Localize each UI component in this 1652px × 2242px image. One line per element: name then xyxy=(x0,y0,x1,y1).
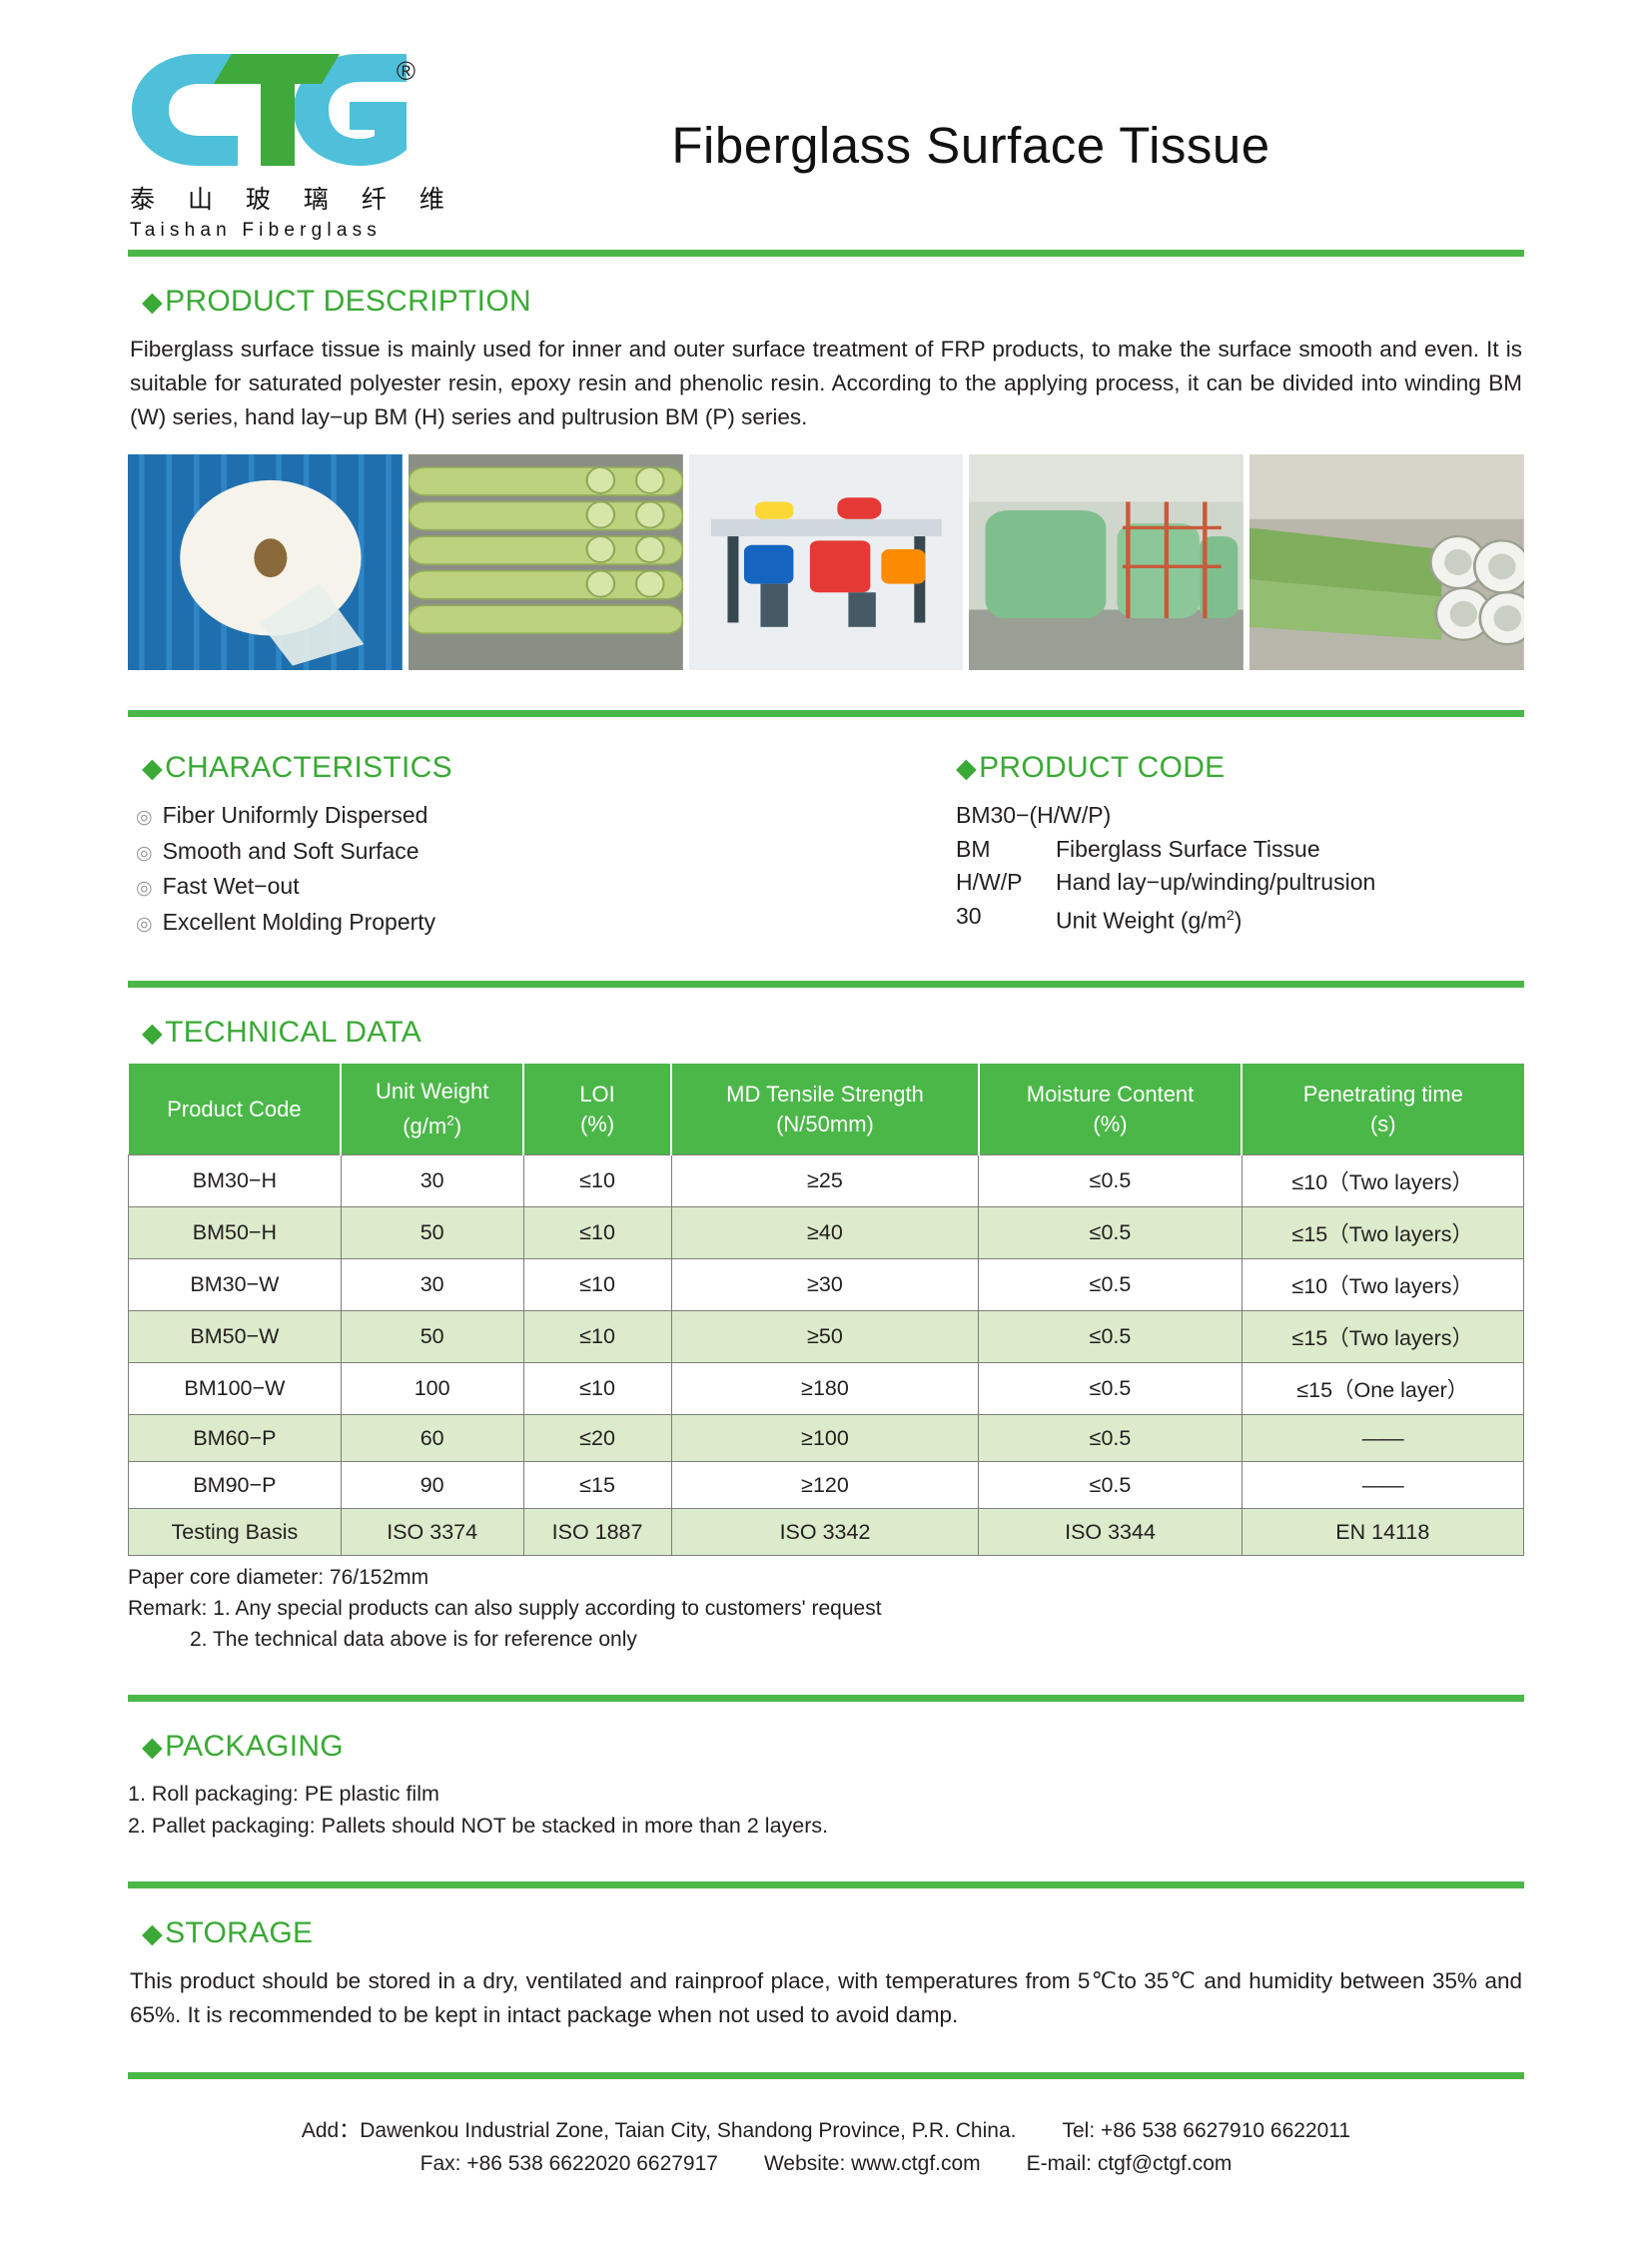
divider-packaging xyxy=(128,1695,1524,1702)
product-code-legend: BM30−(H/W/P) BM Fiberglass Surface Tissu… xyxy=(956,799,1524,938)
cell-code: Testing Basis xyxy=(129,1509,342,1556)
page-header: ® 泰 山 玻 璃 纤 维 Taishan Fiberglass Fibergl… xyxy=(128,0,1524,250)
code-value: Unit Weight (g/m2) xyxy=(1056,900,1524,938)
table-row: BM50−H 50 ≤10 ≥40 ≤0.5 ≤15（Two layers） xyxy=(129,1207,1524,1259)
remark-line-2: 2. The technical data above is for refer… xyxy=(128,1624,1524,1655)
packaging-line-1: 1. Roll packaging: PE plastic film xyxy=(128,1778,1524,1810)
cell-unit-weight: 100 xyxy=(341,1363,523,1415)
header-unit: (%) xyxy=(580,1112,614,1136)
section-heading-description: ◆ PRODUCT DESCRIPTION xyxy=(142,285,1524,319)
header-label: Unit Weight xyxy=(376,1079,488,1104)
section-title-text: PRODUCT CODE xyxy=(979,751,1225,785)
cell-tensile: ISO 3342 xyxy=(671,1509,979,1556)
cell-penetrating: ≤15（One layer） xyxy=(1241,1363,1523,1415)
cell-tensile: ≥40 xyxy=(671,1207,979,1259)
cell-unit-weight: 90 xyxy=(341,1462,523,1509)
cell-code: BM100−W xyxy=(129,1363,342,1415)
cell-loi: ≤10 xyxy=(523,1311,671,1363)
code-key: BM xyxy=(956,833,1056,867)
divider-characteristics xyxy=(128,710,1524,717)
cell-code: BM30−H xyxy=(129,1155,342,1207)
cell-unit-weight: 30 xyxy=(341,1259,523,1311)
section-heading-storage: ◆ STORAGE xyxy=(142,1916,1524,1950)
description-paragraph: Fiberglass surface tissue is mainly used… xyxy=(130,333,1522,434)
list-item: H/W/P Hand lay−up/winding/pultrusion xyxy=(956,866,1524,900)
ring-bullet-icon: ◎ xyxy=(136,872,153,906)
photo-frp-furniture xyxy=(689,454,964,670)
list-item: ◎ Fiber Uniformly Dispersed xyxy=(136,799,826,835)
cell-loi: ISO 1887 xyxy=(523,1509,671,1556)
section-heading-product-code: ◆ PRODUCT CODE xyxy=(956,751,1524,785)
section-title-text: STORAGE xyxy=(165,1916,313,1950)
company-website[interactable]: Website: www.ctgf.com xyxy=(764,2147,981,2180)
table-row: BM90−P 90 ≤15 ≥120 ≤0.5 —— xyxy=(129,1462,1524,1509)
cell-tensile: ≥100 xyxy=(671,1415,979,1462)
cell-loi: ≤10 xyxy=(523,1363,671,1415)
code-value: Fiberglass Surface Tissue xyxy=(1056,833,1524,867)
company-logo: ® 泰 山 玻 璃 纤 维 Taishan Fiberglass xyxy=(128,48,457,242)
packaging-lines: 1. Roll packaging: PE plastic film 2. Pa… xyxy=(128,1778,1524,1842)
company-fax: Fax: +86 538 6622020 6627917 xyxy=(420,2147,718,2180)
page-footer: Add：Dawenkou Industrial Zone, Taian City… xyxy=(128,2114,1524,2180)
header-label: LOI xyxy=(579,1082,614,1107)
column-header-tensile: MD Tensile Strength (N/50mm) xyxy=(671,1064,979,1155)
table-row: BM100−W 100 ≤10 ≥180 ≤0.5 ≤15（One layer） xyxy=(129,1363,1524,1415)
cell-tensile: ≥25 xyxy=(671,1155,979,1207)
cell-loi: ≤15 xyxy=(523,1462,671,1509)
cell-code: BM60−P xyxy=(129,1415,342,1462)
list-item: ◎ Excellent Molding Property xyxy=(136,906,826,942)
company-telephone: Tel: +86 538 6627910 6622011 xyxy=(1062,2114,1350,2147)
characteristic-label: Smooth and Soft Surface xyxy=(163,835,419,869)
list-item: 30 Unit Weight (g/m2) xyxy=(956,900,1524,938)
ring-bullet-icon: ◎ xyxy=(136,908,153,942)
header-unit: (%) xyxy=(1093,1112,1127,1136)
diamond-bullet-icon: ◆ xyxy=(956,755,977,782)
list-item: BM Fiberglass Surface Tissue xyxy=(956,833,1524,867)
cell-moisture: ≤0.5 xyxy=(979,1155,1241,1207)
diamond-bullet-icon: ◆ xyxy=(142,1920,163,1947)
cell-code: BM50−H xyxy=(129,1207,342,1259)
cell-tensile: ≥180 xyxy=(671,1363,979,1415)
divider-technical xyxy=(128,981,1524,988)
header-label: Moisture Content xyxy=(1027,1082,1195,1107)
cell-tensile: ≥50 xyxy=(671,1311,979,1363)
cell-unit-weight: 60 xyxy=(341,1415,523,1462)
diamond-bullet-icon: ◆ xyxy=(142,755,163,782)
cell-unit-weight: 50 xyxy=(341,1311,523,1363)
code-key: 30 xyxy=(956,900,1056,938)
diamond-bullet-icon: ◆ xyxy=(142,1020,163,1047)
table-row: BM60−P 60 ≤20 ≥100 ≤0.5 —— xyxy=(129,1415,1524,1462)
header-unit: (s) xyxy=(1370,1112,1396,1136)
cell-code: BM50−W xyxy=(129,1311,342,1363)
cell-code: BM30−W xyxy=(129,1259,342,1311)
list-item: ◎ Fast Wet−out xyxy=(136,870,826,906)
cell-penetrating: ≤10（Two layers） xyxy=(1241,1259,1523,1311)
cell-penetrating: —— xyxy=(1241,1462,1523,1509)
page-title: Fiberglass Surface Tissue xyxy=(457,116,1524,175)
ring-bullet-icon: ◎ xyxy=(136,801,153,835)
code-value-text: Unit Weight (g/m xyxy=(1056,907,1227,933)
characteristics-list: ◎ Fiber Uniformly Dispersed ◎ Smooth and… xyxy=(136,799,826,941)
cell-penetrating: ≤10（Two layers） xyxy=(1241,1155,1523,1207)
cell-moisture: ≤0.5 xyxy=(979,1311,1241,1363)
table-row-testing-basis: Testing Basis ISO 3374 ISO 1887 ISO 3342… xyxy=(129,1509,1524,1556)
remark-line-1: Remark: 1. Any special products can also… xyxy=(128,1593,1524,1624)
storage-paragraph: This product should be stored in a dry, … xyxy=(130,1964,1522,2032)
cell-moisture: ≤0.5 xyxy=(979,1363,1241,1415)
divider-header xyxy=(128,250,1524,257)
cell-moisture: ISO 3344 xyxy=(979,1509,1241,1556)
code-key: H/W/P xyxy=(956,866,1056,900)
header-label: MD Tensile Strength xyxy=(726,1082,924,1107)
list-item: ◎ Smooth and Soft Surface xyxy=(136,835,826,871)
packaging-line-2: 2. Pallet packaging: Pallets should NOT … xyxy=(128,1810,1524,1842)
company-name-chinese: 泰 山 玻 璃 纤 维 xyxy=(128,180,457,216)
product-code-pattern: BM30−(H/W/P) xyxy=(956,799,1524,833)
cell-unit-weight: ISO 3374 xyxy=(341,1509,523,1556)
header-unit: (g/m2) xyxy=(403,1114,461,1138)
cell-penetrating: ≤15（Two layers） xyxy=(1241,1207,1523,1259)
column-header-product-code: Product Code xyxy=(129,1064,342,1155)
cell-unit-weight: 50 xyxy=(341,1207,523,1259)
characteristic-label: Fiber Uniformly Dispersed xyxy=(163,799,428,833)
header-unit: (N/50mm) xyxy=(776,1112,874,1136)
cell-tensile: ≥120 xyxy=(671,1462,979,1509)
technical-data-table: Product Code Unit Weight (g/m2) LOI (%) … xyxy=(128,1064,1524,1556)
ring-bullet-icon: ◎ xyxy=(136,837,153,871)
registered-trademark-icon: ® xyxy=(397,56,415,87)
company-name-english: Taishan Fiberglass xyxy=(128,220,457,242)
header-label: Product Code xyxy=(167,1097,302,1121)
section-heading-technical: ◆ TECHNICAL DATA xyxy=(142,1016,1524,1050)
cell-loi: ≤20 xyxy=(523,1415,671,1462)
paper-core-note: Paper core diameter: 76/152mm xyxy=(128,1562,1524,1593)
table-row: BM30−H 30 ≤10 ≥25 ≤0.5 ≤10（Two layers） xyxy=(129,1155,1524,1207)
cell-penetrating: EN 14118 xyxy=(1241,1509,1523,1556)
footer-line-2: Fax: +86 538 6622020 6627917 Website: ww… xyxy=(128,2147,1524,2180)
table-body: BM30−H 30 ≤10 ≥25 ≤0.5 ≤10（Two layers） B… xyxy=(129,1155,1524,1556)
table-row: BM50−W 50 ≤10 ≥50 ≤0.5 ≤15（Two layers） xyxy=(129,1311,1524,1363)
section-heading-packaging: ◆ PACKAGING xyxy=(142,1730,1524,1764)
cell-moisture: ≤0.5 xyxy=(979,1415,1241,1462)
cell-code: BM90−P xyxy=(129,1462,342,1509)
code-value: Hand lay−up/winding/pultrusion xyxy=(1056,866,1524,900)
cell-loi: ≤10 xyxy=(523,1259,671,1311)
section-title-text: TECHNICAL DATA xyxy=(165,1016,421,1050)
table-notes: Paper core diameter: 76/152mm Remark: 1.… xyxy=(128,1562,1524,1655)
column-header-unit-weight: Unit Weight (g/m2) xyxy=(341,1064,523,1155)
cell-loi: ≤10 xyxy=(523,1207,671,1259)
section-title-text: PACKAGING xyxy=(165,1730,344,1764)
code-pattern-text: BM30−(H/W/P) xyxy=(956,799,1111,833)
company-address: Add：Dawenkou Industrial Zone, Taian City… xyxy=(302,2114,1017,2147)
footer-line-1: Add：Dawenkou Industrial Zone, Taian City… xyxy=(128,2114,1524,2147)
section-title-text: PRODUCT DESCRIPTION xyxy=(165,285,531,319)
column-header-loi: LOI (%) xyxy=(523,1064,671,1155)
photo-green-pipes xyxy=(409,454,683,670)
company-email[interactable]: E-mail: ctgf@ctgf.com xyxy=(1027,2147,1233,2180)
section-heading-characteristics: ◆ CHARACTERISTICS xyxy=(142,751,826,785)
photo-large-pipes xyxy=(1249,454,1524,670)
cell-penetrating: —— xyxy=(1241,1415,1523,1462)
cell-tensile: ≥30 xyxy=(671,1259,979,1311)
column-header-moisture: Moisture Content (%) xyxy=(979,1064,1241,1155)
diamond-bullet-icon: ◆ xyxy=(142,289,163,316)
cell-moisture: ≤0.5 xyxy=(979,1207,1241,1259)
code-value-suffix: ) xyxy=(1235,907,1242,933)
cell-unit-weight: 30 xyxy=(341,1155,523,1207)
diamond-bullet-icon: ◆ xyxy=(142,1734,163,1761)
photo-frp-tanks xyxy=(969,454,1243,670)
divider-footer xyxy=(128,2072,1524,2079)
section-title-text: CHARACTERISTICS xyxy=(165,751,452,785)
superscript-two: 2 xyxy=(1227,908,1235,924)
table-row: BM30−W 30 ≤10 ≥30 ≤0.5 ≤10（Two layers） xyxy=(129,1259,1524,1311)
header-label: Penetrating time xyxy=(1303,1082,1463,1107)
cell-moisture: ≤0.5 xyxy=(979,1259,1241,1311)
photo-tissue-roll xyxy=(128,454,403,670)
cell-loi: ≤10 xyxy=(523,1155,671,1207)
characteristic-label: Excellent Molding Property xyxy=(163,906,436,940)
divider-storage xyxy=(128,1881,1524,1888)
characteristic-label: Fast Wet−out xyxy=(163,870,300,904)
column-header-penetrating: Penetrating time (s) xyxy=(1241,1064,1523,1155)
product-photo-strip xyxy=(128,454,1524,670)
cell-penetrating: ≤15（Two layers） xyxy=(1241,1311,1523,1363)
ctg-logo-icon: ® xyxy=(128,48,427,168)
table-header-row: Product Code Unit Weight (g/m2) LOI (%) … xyxy=(129,1064,1524,1155)
cell-moisture: ≤0.5 xyxy=(979,1462,1241,1509)
